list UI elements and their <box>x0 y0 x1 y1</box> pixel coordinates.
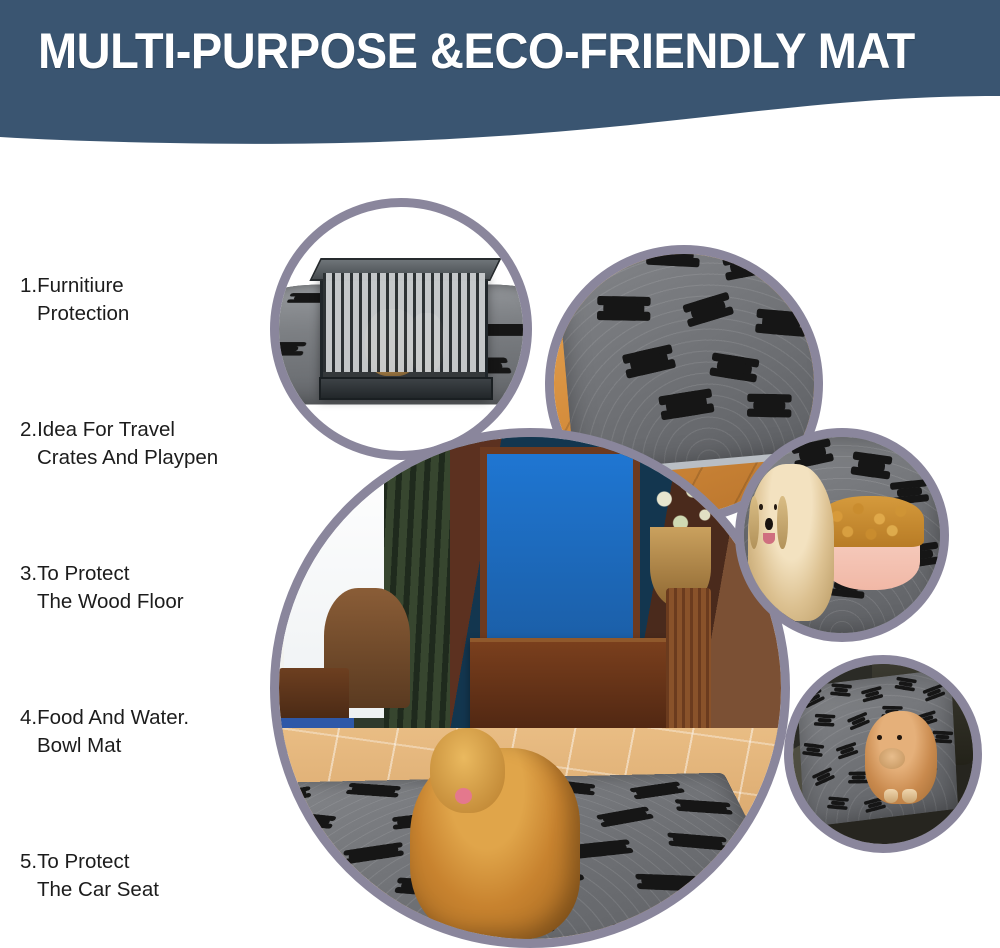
kibble-food <box>818 496 924 547</box>
photo-bubble-dog-crate <box>270 198 532 460</box>
scene-living-room <box>279 437 781 939</box>
retriever-eye-left <box>759 504 762 510</box>
golden-retriever <box>748 464 834 621</box>
television <box>480 447 641 648</box>
dog-crate <box>320 270 487 393</box>
crate-base-tray <box>319 377 494 400</box>
bulldog-puppy <box>865 711 937 805</box>
puppy-eye-left <box>877 735 882 740</box>
photo-collage <box>0 150 1000 946</box>
puppy-eye-right <box>897 735 902 740</box>
photo-bubble-food-bowl <box>735 428 949 642</box>
puppy-muzzle <box>879 748 905 769</box>
puppy-paw-right <box>902 789 916 802</box>
retriever-ear-left <box>749 496 759 549</box>
tv-console-cabinet <box>470 638 681 742</box>
puppy-paw-left <box>884 789 898 802</box>
photo-bubble-car-seat <box>784 655 982 853</box>
retriever-nose <box>765 518 773 531</box>
header-banner: MULTI-PURPOSE &ECO-FRIENDLY MAT <box>0 0 1000 150</box>
page-title: MULTI-PURPOSE &ECO-FRIENDLY MAT <box>38 22 922 80</box>
scene-car-seat <box>793 664 973 844</box>
photo-bubble-living-room <box>270 428 790 948</box>
retriever-mouth <box>763 533 775 544</box>
crate-bars <box>323 273 484 371</box>
scene-food-bowl <box>744 437 940 633</box>
scene-dog-crate <box>279 207 523 451</box>
retriever-ear-right <box>777 496 787 549</box>
